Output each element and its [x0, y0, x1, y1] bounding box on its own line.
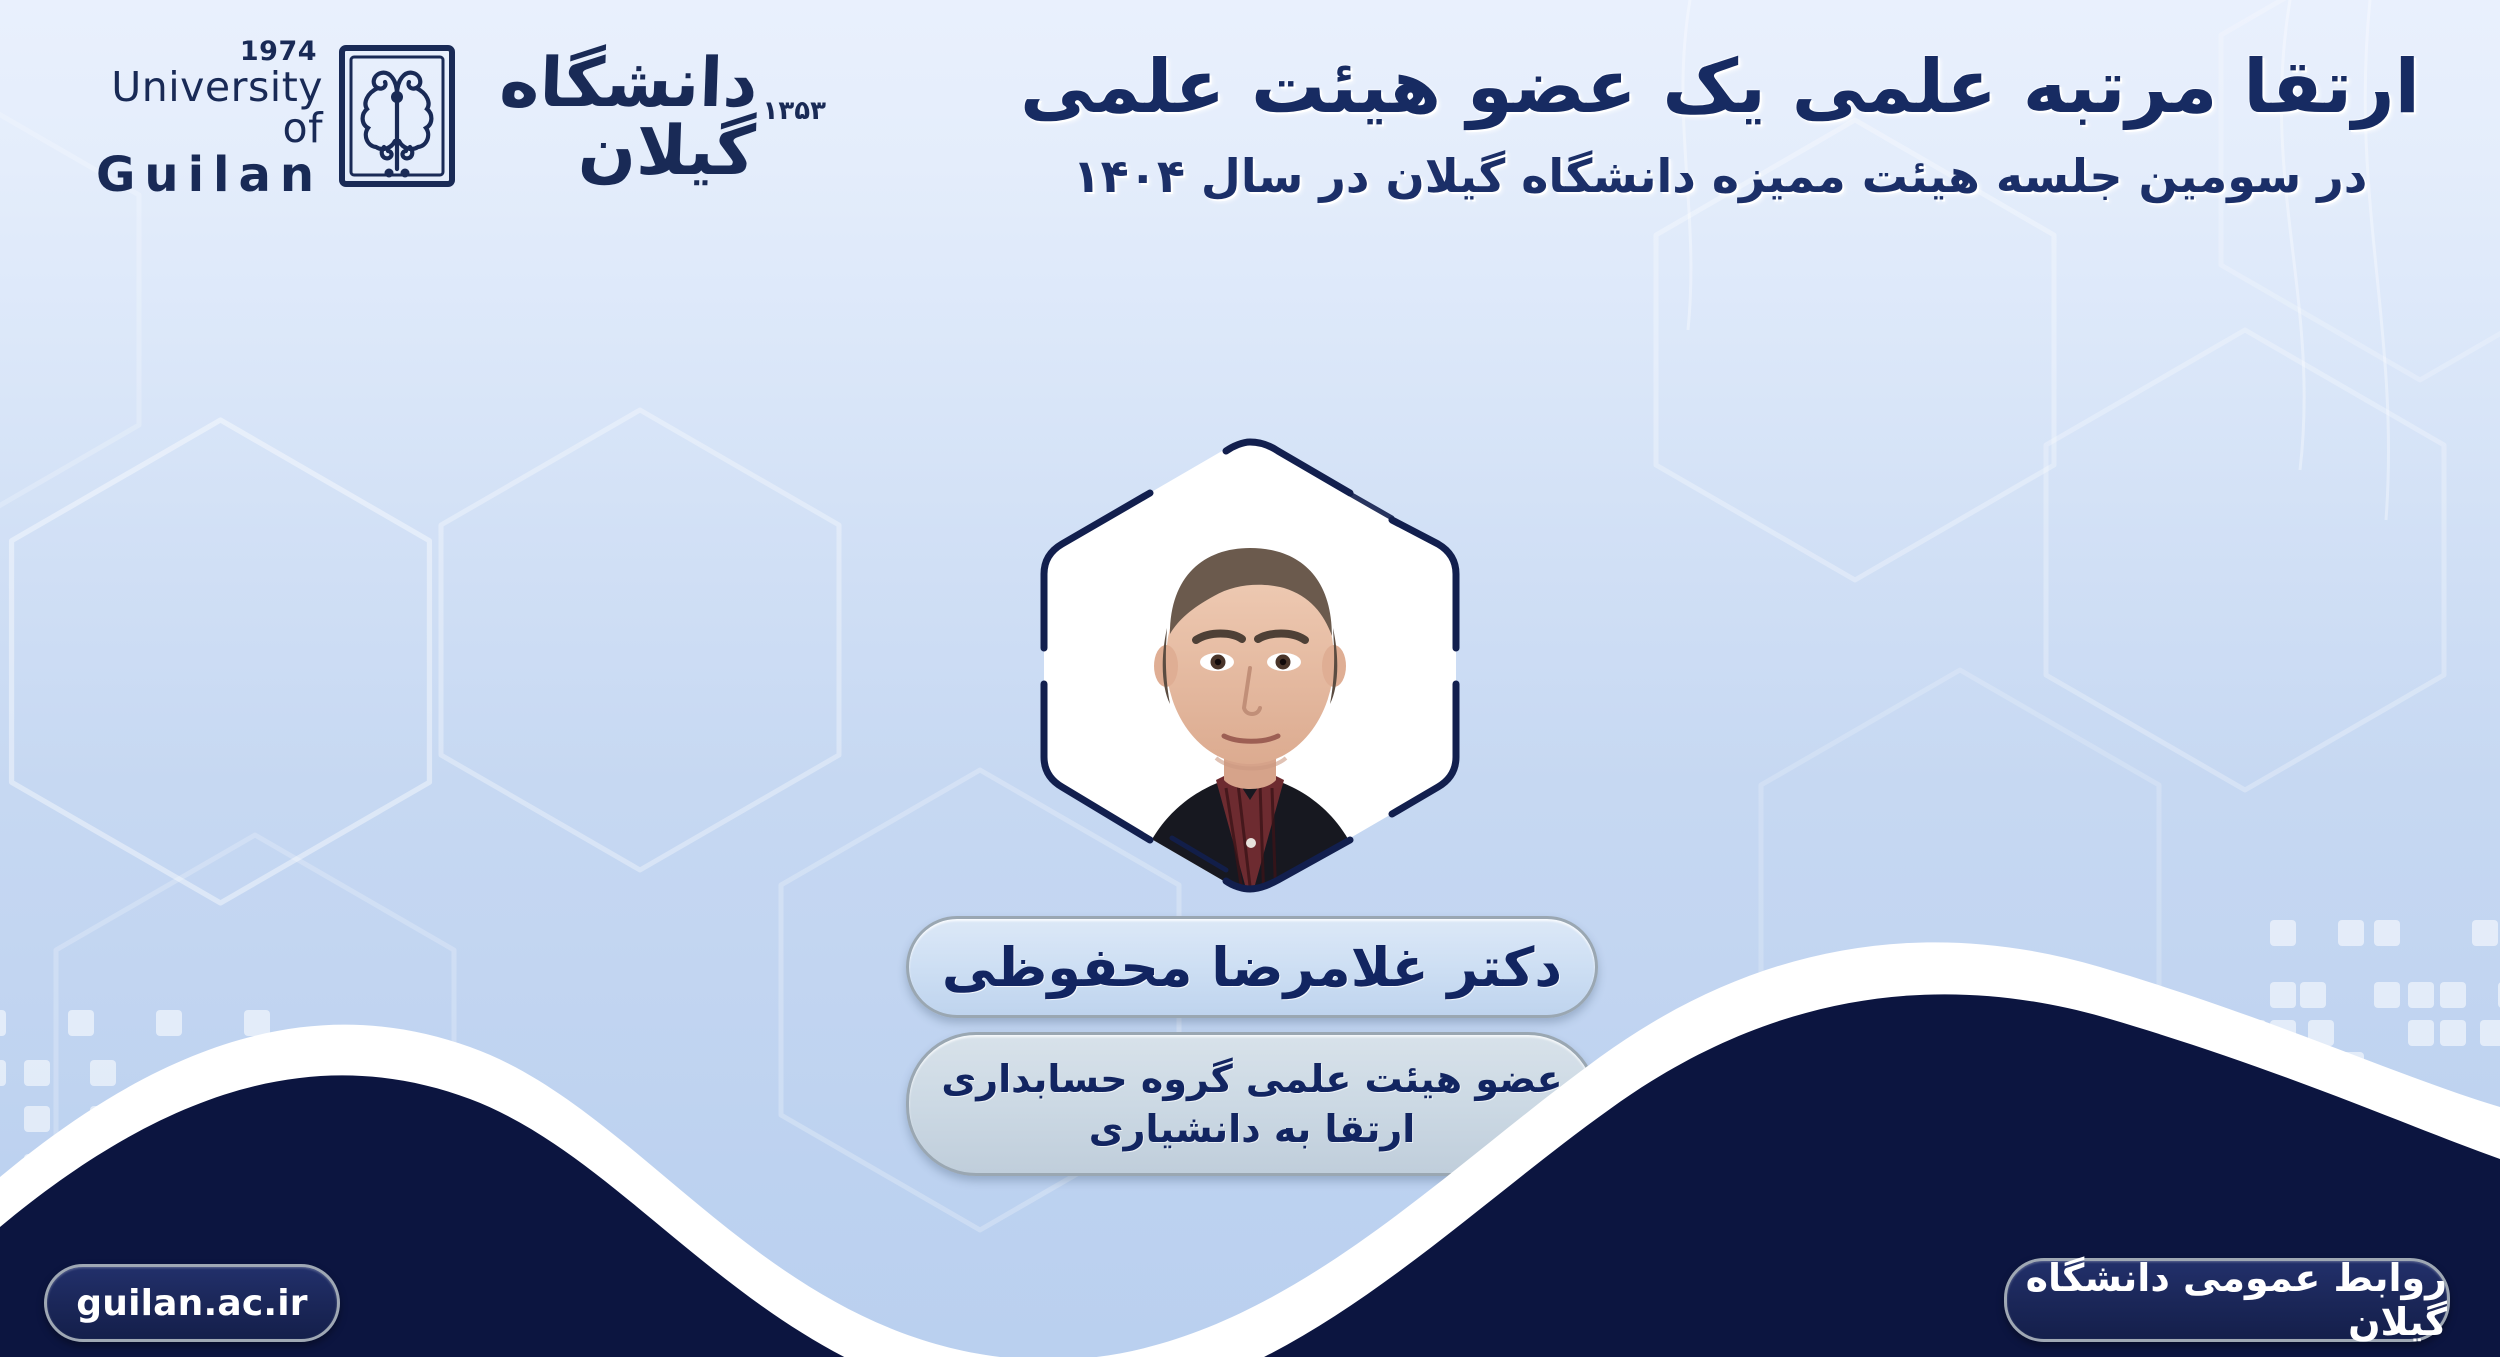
dot-grid-right	[2240, 920, 2500, 1140]
poster-canvas: 1974 University of Guilan	[0, 0, 2500, 1357]
headline-block: ارتقا مرتبه علمی یک عضو هیئت علمی در سوم…	[1000, 44, 2440, 207]
public-relations-label: روابط عمومی دانشگاه گیلان	[2007, 1256, 2447, 1344]
logo-name-fa: دانشگاه گیلان	[469, 50, 759, 186]
logo-guilan-line: Guilan	[96, 151, 323, 199]
website-url: guilan.ac.ir	[76, 1283, 307, 1324]
person-name-badge: دکتر غلامرضا محفوظی	[906, 916, 1598, 1018]
guilan-university-emblem-icon	[337, 43, 457, 193]
public-relations-badge: روابط عمومی دانشگاه گیلان	[2004, 1258, 2450, 1342]
logo-university-line: University of	[96, 67, 323, 149]
portrait-frame	[1020, 428, 1480, 903]
logo-english-text: 1974 University of Guilan	[96, 38, 323, 199]
university-logo: 1974 University of Guilan	[96, 38, 826, 198]
logo-persian-text: ۱۳۵۳ دانشگاه گیلان	[471, 50, 826, 186]
person-role-line-2: ارتقا به دانشیاری	[1089, 1106, 1416, 1152]
person-role-line-1: عضو هیئت علمی گروه حسابداری	[941, 1056, 1562, 1102]
dot-grid-left	[0, 1010, 300, 1240]
person-role-badge: عضو هیئت علمی گروه حسابداری ارتقا به دان…	[906, 1032, 1598, 1176]
logo-year-fa: ۱۳۵۳	[763, 96, 826, 140]
page-title: ارتقا مرتبه علمی یک عضو هیئت علمی	[1000, 44, 2440, 131]
logo-year-en: 1974	[96, 38, 317, 65]
page-subtitle: در سومین جلسه هیئت ممیزه دانشگاه گیلان د…	[1000, 147, 2440, 207]
person-name: دکتر غلامرضا محفوظی	[942, 936, 1562, 999]
website-badge[interactable]: guilan.ac.ir	[44, 1264, 340, 1342]
